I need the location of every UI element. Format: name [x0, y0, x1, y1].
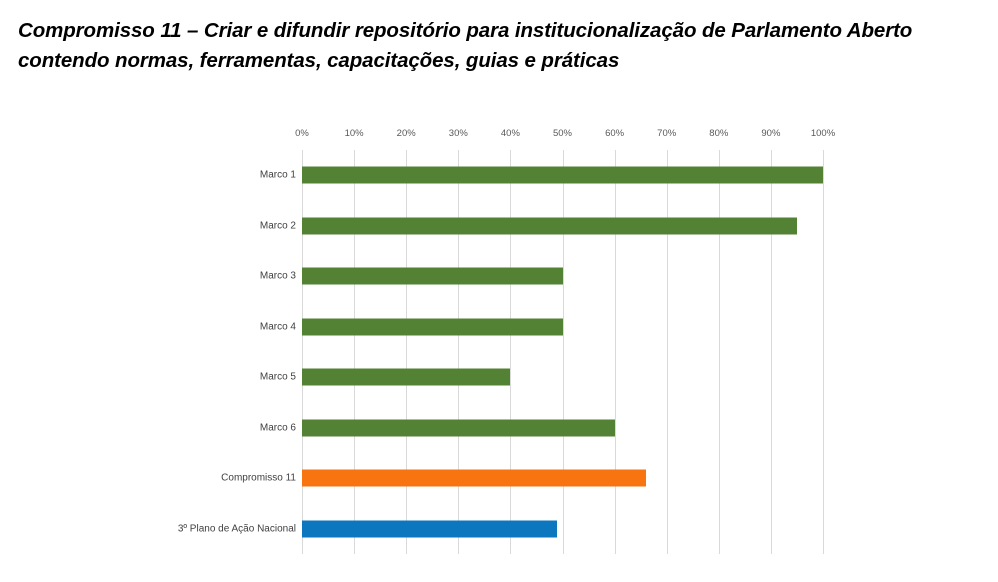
- x-tick-label: 80%: [709, 128, 728, 139]
- bar-chart: 0%10%20%30%40%50%60%70%80%90%100% Marco …: [0, 0, 998, 582]
- category-label: Marco 6: [260, 422, 296, 433]
- category-label: 3º Plano de Ação Nacional: [178, 523, 296, 534]
- x-axis: 0%10%20%30%40%50%60%70%80%90%100%: [302, 128, 823, 144]
- x-tick-label: 90%: [761, 128, 780, 139]
- category-label: Marco 1: [260, 170, 296, 181]
- bar: [302, 419, 615, 436]
- bar: [302, 217, 797, 234]
- x-tick-label: 10%: [345, 128, 364, 139]
- category-label: Marco 2: [260, 220, 296, 231]
- y-axis: Marco 1Marco 2Marco 3Marco 4Marco 5Marco…: [60, 150, 296, 554]
- bar: [302, 470, 646, 487]
- bar: [302, 318, 563, 335]
- x-tick-label: 50%: [553, 128, 572, 139]
- category-label: Marco 5: [260, 372, 296, 383]
- bar: [302, 369, 510, 386]
- bar: [302, 268, 563, 285]
- bars-layer: [302, 150, 823, 554]
- category-label: Compromisso 11: [221, 473, 296, 484]
- category-label: Marco 4: [260, 321, 296, 332]
- gridline-100pct: [823, 150, 824, 554]
- bar: [302, 167, 823, 184]
- x-tick-label: 60%: [605, 128, 624, 139]
- x-tick-label: 100%: [811, 128, 835, 139]
- x-tick-label: 20%: [397, 128, 416, 139]
- x-tick-label: 40%: [501, 128, 520, 139]
- bar: [302, 520, 557, 537]
- x-tick-label: 30%: [449, 128, 468, 139]
- x-tick-label: 0%: [295, 128, 309, 139]
- category-label: Marco 3: [260, 271, 296, 282]
- x-tick-label: 70%: [657, 128, 676, 139]
